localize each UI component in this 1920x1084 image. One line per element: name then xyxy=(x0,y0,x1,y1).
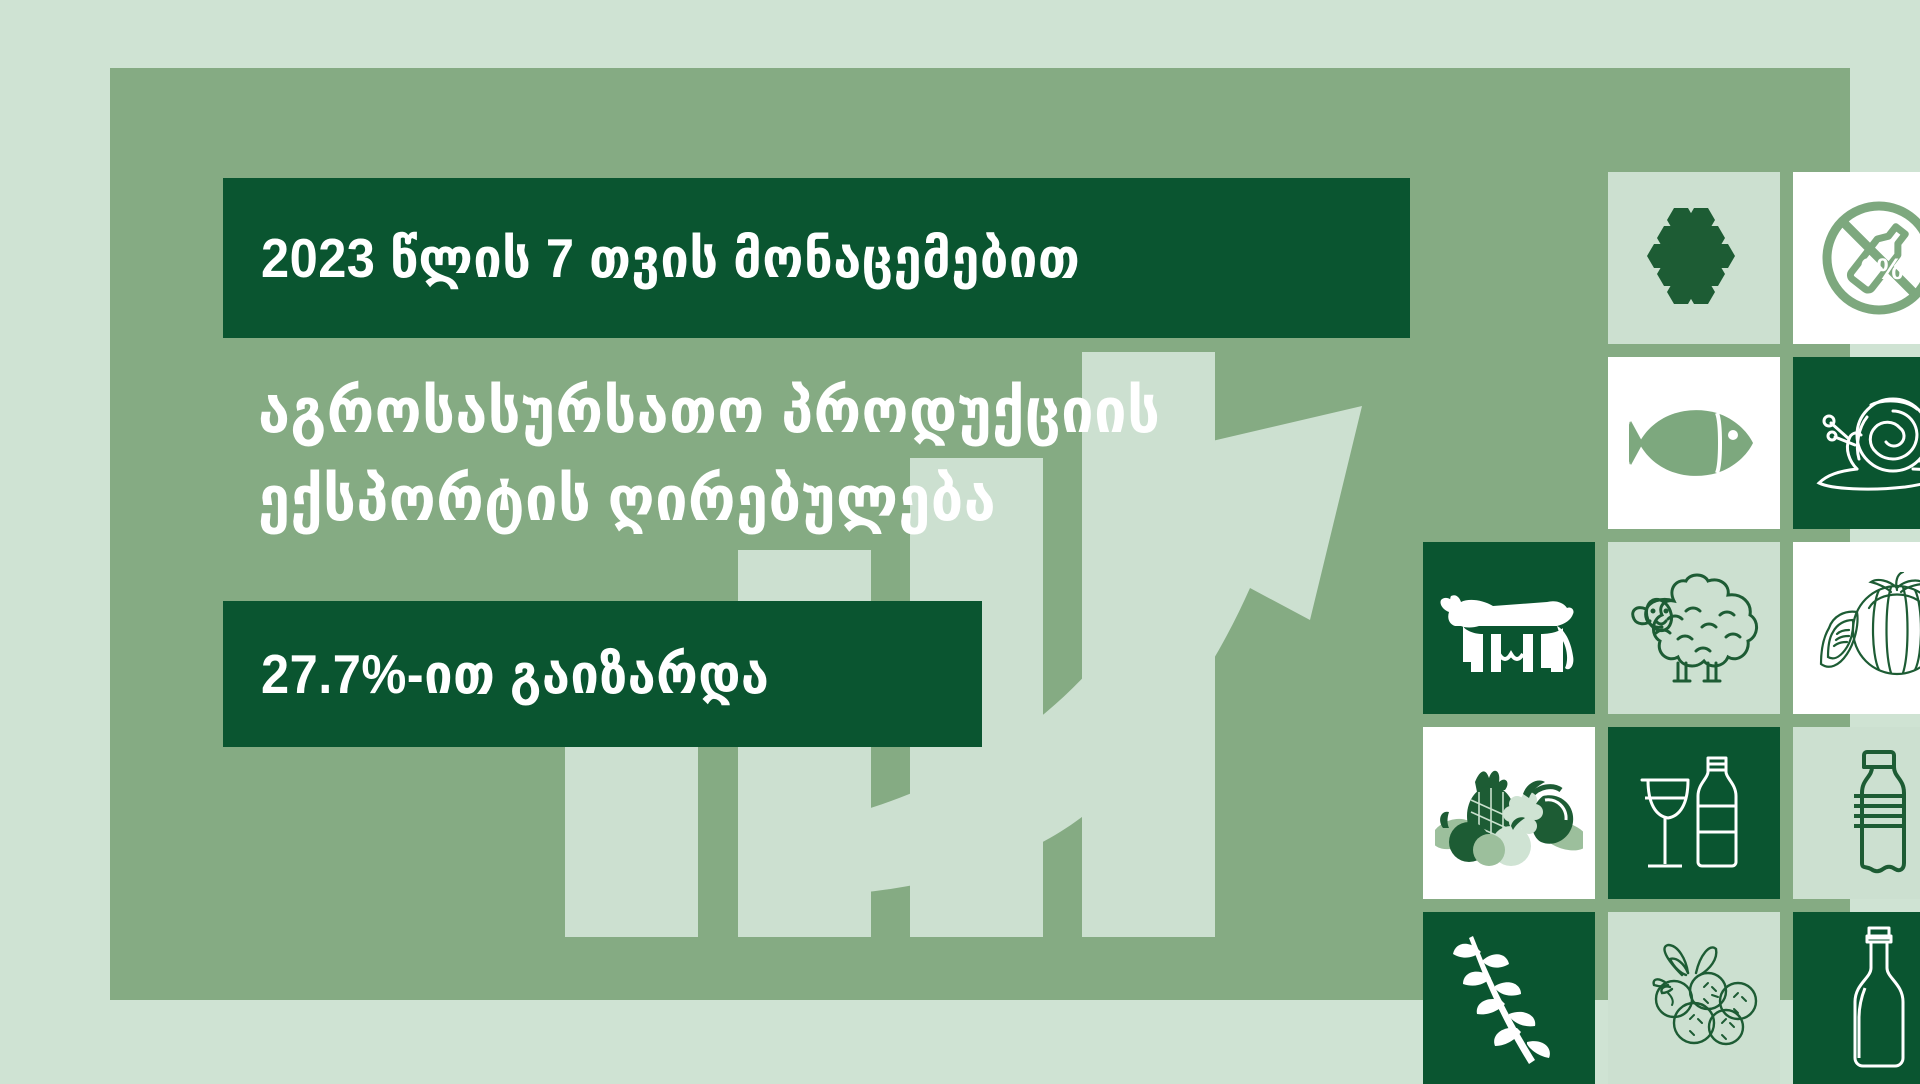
page-title: აგროსასურსათო პროდუქციის ექსპორტის ღირებ… xyxy=(258,368,1438,544)
blueberries-icon xyxy=(1626,939,1762,1057)
sheep-icon xyxy=(1626,567,1762,689)
grid-cell-fruits-vegetables xyxy=(1423,727,1595,899)
grid-cell-wine xyxy=(1608,727,1780,899)
date-banner: 2023 წლის 7 თვის მონაცემებით xyxy=(223,178,1410,338)
grid-cell-cow xyxy=(1423,542,1595,714)
honeycomb-icon xyxy=(1635,202,1753,314)
fruits-vegetables-icon xyxy=(1435,756,1583,870)
grid-cell-honeycomb xyxy=(1608,172,1780,344)
grid-cell-no-alcohol: 0% xyxy=(1793,172,1920,344)
svg-text:0%: 0% xyxy=(1860,253,1903,286)
melon-icon xyxy=(1809,572,1920,684)
date-banner-text: 2023 წლის 7 თვის მონაცემებით xyxy=(261,231,1080,286)
grid-cell-melon xyxy=(1793,542,1920,714)
grid-cell-snail xyxy=(1793,357,1920,529)
wine-bottle-glass-icon xyxy=(1632,750,1756,876)
stat-banner-text: 27.7%-ით გაიზარდა xyxy=(261,647,769,702)
grid-cell-glass-bottle xyxy=(1793,912,1920,1084)
stat-banner: 27.7%-ით გაიზარდა xyxy=(223,601,982,747)
main-panel: 2023 წლის 7 თვის მონაცემებით აგროსასურსა… xyxy=(110,68,1850,1000)
glass-bottle-icon xyxy=(1841,924,1917,1072)
grid-cell-water-bottle xyxy=(1793,727,1920,899)
headline-line-2: ექსპორტის ღირებულება xyxy=(258,456,1355,544)
no-alcohol-icon: 0% xyxy=(1816,195,1920,321)
fish-icon xyxy=(1629,401,1759,485)
cow-icon xyxy=(1439,576,1579,680)
grid-cell-empty xyxy=(1423,172,1595,344)
grid-cell-blueberries xyxy=(1608,912,1780,1084)
grid-cell-sheep xyxy=(1608,542,1780,714)
icon-grid: 0% xyxy=(1423,172,1920,1084)
water-bottle-icon xyxy=(1839,748,1919,878)
herb-branch-icon xyxy=(1449,930,1569,1066)
grid-cell-fish xyxy=(1608,357,1780,529)
grid-cell-herb xyxy=(1423,912,1595,1084)
headline-line-1: აგროსასურსათო პროდუქციის xyxy=(258,368,1355,456)
snail-icon xyxy=(1809,391,1920,495)
grid-cell-empty xyxy=(1423,357,1595,529)
